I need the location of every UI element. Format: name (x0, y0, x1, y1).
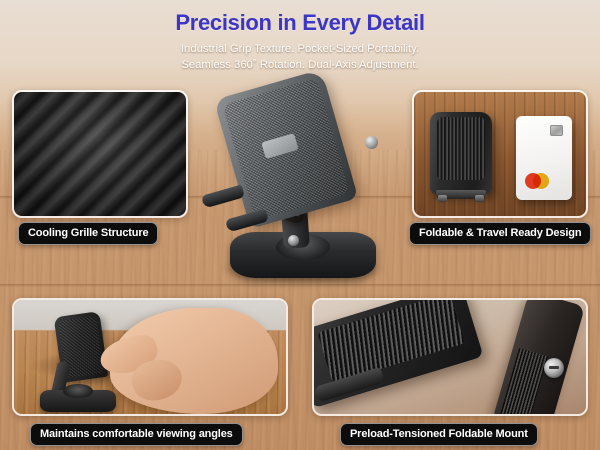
subtitle-line-2: Seamless 360˚ Rotation. Dual-Axis Adjust… (0, 57, 600, 73)
hinge-screw-icon (544, 358, 564, 378)
caption-foldable-mount: Preload-Tensioned Foldable Mount (340, 423, 538, 446)
credit-card-size-reference (516, 116, 572, 200)
hero-product-image (196, 78, 406, 290)
human-hand (110, 308, 278, 414)
subtitle-line-1: Industrial Grip Texture. Pocket-Sized Po… (0, 41, 600, 57)
caption-cooling-grille: Cooling Grille Structure (18, 222, 158, 245)
card-logo-circle-yellow (533, 173, 549, 189)
cradle-plate-ribs (317, 298, 464, 384)
stand-upper-pivot-screw-icon (365, 136, 378, 149)
stand-lower-pivot-screw-icon (288, 235, 299, 246)
hinge-arm-slats (499, 348, 548, 416)
panel-foldable-travel (412, 90, 588, 218)
header: Precision in Every Detail Industrial Gri… (0, 10, 600, 73)
product-infographic: Precision in Every Detail Industrial Gri… (0, 0, 600, 450)
stand-base-side-view (40, 390, 116, 412)
stand-phone-cradle (214, 69, 359, 229)
card-chip-icon (550, 125, 563, 136)
panel-viewing-angles (12, 298, 288, 416)
cradle-lip-upper (201, 184, 245, 208)
panel-cooling-grille (12, 90, 188, 218)
page-subtitle: Industrial Grip Texture. Pocket-Sized Po… (0, 41, 600, 73)
folded-stand-product (430, 112, 492, 194)
card-payment-logo-icon (525, 173, 551, 189)
caption-foldable-travel: Foldable & Travel Ready Design (409, 222, 591, 245)
hinge-closeup-art (314, 300, 586, 414)
hinge-support-arm (493, 298, 585, 416)
page-title: Precision in Every Detail (0, 10, 600, 36)
folded-stand-hooks (436, 190, 486, 199)
panel-foldable-mount (312, 298, 588, 416)
travel-scene-art (414, 92, 586, 216)
viewing-angle-scene-art (14, 300, 286, 414)
folded-stand-ribs (437, 117, 485, 180)
cradle-ribbed-plate (312, 298, 484, 408)
caption-viewing-angles: Maintains comfortable viewing angles (30, 423, 243, 446)
cooling-grille-texture-art (14, 92, 186, 216)
